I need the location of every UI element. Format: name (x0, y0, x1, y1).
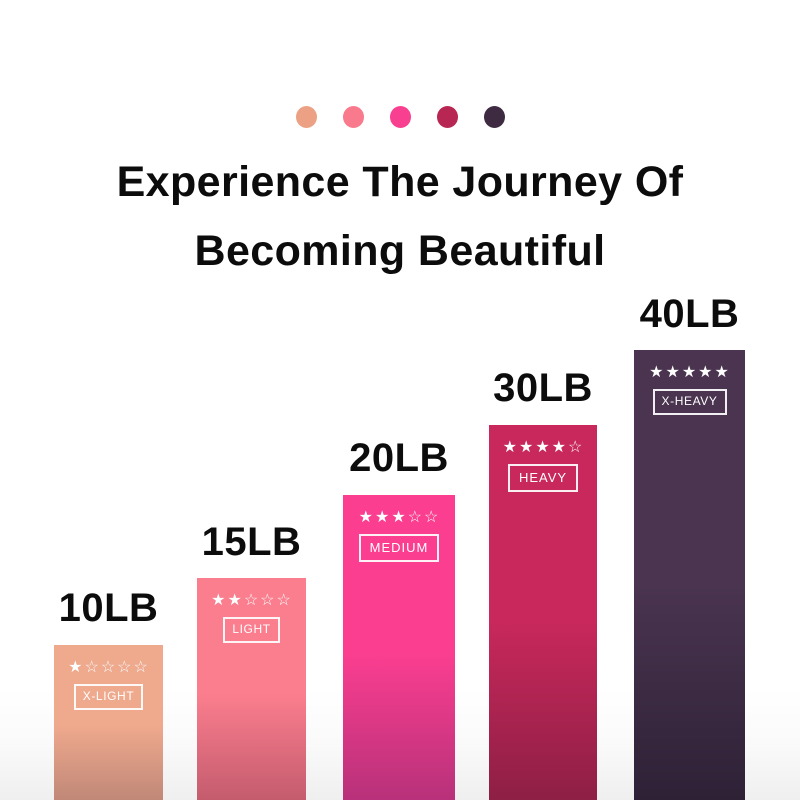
bar-heavy[interactable]: ★★★★☆HEAVY (489, 425, 597, 800)
bar-group[interactable]: 20LB★★★☆☆MEDIUM (343, 438, 455, 800)
level-badge: X-LIGHT (74, 684, 144, 710)
star-filled-icon: ★ (535, 439, 550, 457)
star-filled-icon: ★ (519, 439, 534, 457)
star-filled-icon: ★ (715, 364, 730, 382)
bar-weight-label: 40LB (640, 294, 740, 334)
resistance-band-poster: Experience The Journey Of Becoming Beaut… (0, 0, 800, 800)
star-rating: ★★★★☆ (503, 439, 584, 457)
star-empty-icon: ☆ (408, 509, 423, 527)
level-badge: MEDIUM (359, 534, 440, 562)
star-empty-icon: ☆ (277, 592, 292, 610)
bar-medium[interactable]: ★★★☆☆MEDIUM (343, 495, 455, 800)
bar-weight-label: 10LB (59, 588, 159, 628)
bar-content: ★★★★★X-HEAVY (634, 364, 745, 415)
star-filled-icon: ★ (227, 592, 242, 610)
bar-x-heavy[interactable]: ★★★★★X-HEAVY (634, 350, 745, 800)
star-rating: ★★☆☆☆ (211, 592, 292, 610)
star-empty-icon: ☆ (84, 659, 99, 677)
bar-group[interactable]: 40LB★★★★★X-HEAVY (634, 294, 745, 800)
bar-content: ★★☆☆☆LIGHT (197, 592, 306, 643)
star-filled-icon: ★ (503, 439, 518, 457)
star-rating: ★★★☆☆ (359, 509, 440, 527)
bar-group[interactable]: 10LB★☆☆☆☆X-LIGHT (54, 588, 163, 800)
bar-weight-label: 15LB (202, 522, 302, 562)
star-rating: ★★★★★ (649, 364, 730, 382)
level-badge: LIGHT (223, 617, 279, 643)
bar-weight-label: 30LB (493, 368, 593, 408)
star-empty-icon: ☆ (134, 659, 149, 677)
star-empty-icon: ☆ (260, 592, 275, 610)
level-badge: X-HEAVY (653, 389, 727, 415)
star-filled-icon: ★ (698, 364, 713, 382)
star-empty-icon: ☆ (424, 509, 439, 527)
star-filled-icon: ★ (552, 439, 567, 457)
star-filled-icon: ★ (391, 509, 406, 527)
star-empty-icon: ☆ (568, 439, 583, 457)
star-filled-icon: ★ (649, 364, 664, 382)
level-badge: HEAVY (508, 464, 578, 492)
star-filled-icon: ★ (665, 364, 680, 382)
star-filled-icon: ★ (68, 659, 83, 677)
bar-content: ★★★☆☆MEDIUM (343, 509, 455, 562)
star-filled-icon: ★ (211, 592, 226, 610)
bar-group[interactable]: 30LB★★★★☆HEAVY (489, 368, 597, 800)
bar-weight-label: 20LB (349, 438, 449, 478)
star-empty-icon: ☆ (244, 592, 259, 610)
star-filled-icon: ★ (375, 509, 390, 527)
star-empty-icon: ☆ (117, 659, 132, 677)
star-filled-icon: ★ (682, 364, 697, 382)
star-filled-icon: ★ (359, 509, 374, 527)
bar-content: ★★★★☆HEAVY (489, 439, 597, 492)
star-rating: ★☆☆☆☆ (68, 659, 149, 677)
bar-content: ★☆☆☆☆X-LIGHT (54, 659, 163, 710)
bar-light[interactable]: ★★☆☆☆LIGHT (197, 578, 306, 800)
bar-x-light[interactable]: ★☆☆☆☆X-LIGHT (54, 645, 163, 800)
bar-group[interactable]: 15LB★★☆☆☆LIGHT (197, 522, 306, 800)
resistance-bar-chart: 10LB★☆☆☆☆X-LIGHT15LB★★☆☆☆LIGHT20LB★★★☆☆M… (0, 0, 800, 800)
star-empty-icon: ☆ (101, 659, 116, 677)
